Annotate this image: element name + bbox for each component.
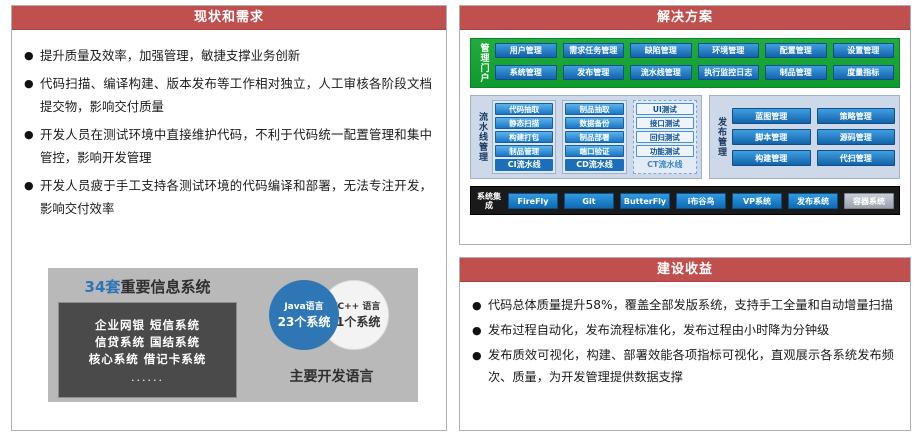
- system-integration-layer: 系统集成 FireFly Git ButterFly i布谷鸟 VP系统 发布系…: [470, 186, 900, 215]
- integration-button[interactable]: ButterFly: [620, 193, 670, 209]
- pipeline-column-footer: CI流水线: [495, 159, 553, 171]
- bullet-text: 发布质效可视化，构建、部署效能各项指标可视化，直观展示各系统发布频次、质量，为开…: [488, 344, 894, 388]
- list-item: ● 开发人员在测试环境中直接维护代码，不利于代码统一配置管理和集中管控，影响开发…: [24, 123, 432, 169]
- slide-canvas: 现状和需求 ● 提升质量及效率，加强管理，敏捷支撑业务创新 ● 代码扫描、编译构…: [0, 0, 919, 436]
- benefit-bullet-list: ● 代码总体质量提升58%，覆盖全部发版系统，支持手工全量和自动增量扫描 ● 发…: [460, 282, 910, 394]
- panel-solution-title: 解决方案: [460, 6, 910, 30]
- release-management-buttons: 蓝图管理 策略管理 脚本管理 源码管理 构建管理 代扫管理: [732, 100, 895, 174]
- portal-button[interactable]: 发布管理: [563, 65, 625, 80]
- portal-button[interactable]: 执行监控日志: [698, 65, 760, 80]
- pipeline-step[interactable]: 代码抽取: [495, 103, 553, 115]
- pipeline-and-release-row: 流水线管理 代码抽取 静态扫描 构建打包 制品管理 CI流水线 制品抽取 数据备…: [470, 95, 900, 179]
- system-row-ellipsis: ......: [131, 371, 164, 384]
- panel-benefit-title: 建设收益: [460, 258, 910, 282]
- pipeline-column-ct: UI测试 接口测试 回归测试 功能测试 CT流水线: [633, 100, 697, 174]
- current-situation-bullet-list: ● 提升质量及效率，加强管理，敏捷支撑业务创新 ● 代码扫描、编译构建、版本发布…: [12, 30, 446, 229]
- solution-architecture-diagram: 管理门户 用户管理 需求任务管理 缺陷管理 环境管理 配置管理 设置管理 系统管…: [460, 30, 910, 221]
- panel-current-situation: 现状和需求 ● 提升质量及效率，加强管理，敏捷支撑业务创新 ● 代码扫描、编译构…: [11, 5, 447, 431]
- integration-button[interactable]: FireFly: [508, 193, 558, 209]
- system-row: 信贷系统 国结系统: [95, 334, 200, 351]
- release-management-label: 发布管理: [714, 100, 727, 174]
- pipeline-step[interactable]: 回归测试: [636, 131, 694, 143]
- release-button[interactable]: 策略管理: [817, 108, 896, 124]
- venn-circle-java: Java语言 23个系统: [269, 280, 339, 350]
- bullet-dot-icon: ●: [472, 344, 488, 388]
- portal-button[interactable]: 制品管理: [765, 65, 827, 80]
- systems-count-unit: 套: [105, 278, 120, 296]
- release-management-layer: 发布管理 蓝图管理 策略管理 脚本管理 源码管理 构建管理 代扫管理: [709, 95, 900, 179]
- portal-button[interactable]: 缺陷管理: [630, 43, 692, 58]
- pipeline-step[interactable]: 制品部署: [565, 131, 623, 143]
- systems-count-title: 34套重要信息系统: [58, 276, 237, 297]
- management-portal-label: 管理门户: [476, 43, 490, 83]
- bullet-dot-icon: ●: [472, 294, 488, 317]
- integration-button[interactable]: 发布系统: [788, 193, 838, 209]
- pipeline-management-layer: 流水线管理 代码抽取 静态扫描 构建打包 制品管理 CI流水线 制品抽取 数据备…: [470, 95, 702, 179]
- pipeline-step[interactable]: 功能测试: [636, 145, 694, 157]
- bullet-dot-icon: ●: [24, 174, 40, 220]
- pipeline-column-footer: CD流水线: [565, 159, 623, 171]
- list-item: ● 提升质量及效率，加强管理，敏捷支撑业务创新: [24, 44, 432, 67]
- systems-infographic: 34套重要信息系统 企业网银 短信系统 信贷系统 国结系统 核心系统 借记卡系统…: [48, 268, 418, 402]
- bullet-text: 发布过程自动化，发布流程标准化，发布过程由小时降为分钟级: [488, 319, 894, 342]
- panel-benefit: 建设收益 ● 代码总体质量提升58%，覆盖全部发版系统，支持手工全量和自动增量扫…: [459, 257, 911, 431]
- portal-button[interactable]: 环境管理: [698, 43, 760, 58]
- portal-button[interactable]: 流水线管理: [630, 65, 692, 80]
- release-button[interactable]: 代扫管理: [817, 150, 896, 166]
- pipeline-columns: 代码抽取 静态扫描 构建打包 制品管理 CI流水线 制品抽取 数据备份 制品部署…: [492, 100, 697, 174]
- pipeline-step[interactable]: 端口验证: [565, 145, 623, 157]
- management-portal-layer: 管理门户 用户管理 需求任务管理 缺陷管理 环境管理 配置管理 设置管理 系统管…: [470, 38, 900, 88]
- list-item: ● 代码总体质量提升58%，覆盖全部发版系统，支持手工全量和自动增量扫描: [472, 294, 894, 317]
- list-item: ● 开发人员疲于手工支持各测试环境的代码编译和部署，无法专注开发，影响交付效率: [24, 174, 432, 220]
- release-button[interactable]: 脚本管理: [732, 129, 811, 145]
- pipeline-column-ci: 代码抽取 静态扫描 构建打包 制品管理 CI流水线: [492, 100, 556, 174]
- venn-caption: 主要开发语言: [245, 366, 418, 386]
- system-integration-buttons: FireFly Git ButterFly i布谷鸟 VP系统 发布系统 容器系…: [508, 193, 894, 209]
- integration-button[interactable]: i布谷鸟: [676, 193, 726, 209]
- pipeline-management-label: 流水线管理: [475, 100, 488, 174]
- list-item: ● 发布质效可视化，构建、部署效能各项指标可视化，直观展示各系统发布频次、质量，…: [472, 344, 894, 388]
- release-button[interactable]: 构建管理: [732, 150, 811, 166]
- system-row: 核心系统 借记卡系统: [89, 351, 207, 368]
- systems-count-number: 34: [85, 278, 106, 296]
- release-button[interactable]: 源码管理: [817, 129, 896, 145]
- integration-button[interactable]: Git: [564, 193, 614, 209]
- systems-name-box: 企业网银 短信系统 信贷系统 国结系统 核心系统 借记卡系统 ......: [58, 302, 237, 398]
- release-button[interactable]: 蓝图管理: [732, 108, 811, 124]
- bullet-dot-icon: ●: [24, 72, 40, 118]
- portal-button[interactable]: 需求任务管理: [563, 43, 625, 58]
- bullet-dot-icon: ●: [24, 123, 40, 169]
- pipeline-column-cd: 制品抽取 数据备份 制品部署 端口验证 CD流水线: [562, 100, 626, 174]
- portal-button[interactable]: 用户管理: [495, 43, 557, 58]
- list-item: ● 代码扫描、编译构建、版本发布等工作相对独立，人工审核各阶段文档提交物，影响交…: [24, 72, 432, 118]
- portal-button[interactable]: 配置管理: [765, 43, 827, 58]
- portal-button[interactable]: 度量指标: [833, 65, 895, 80]
- pipeline-step[interactable]: 接口测试: [636, 117, 694, 129]
- portal-button[interactable]: 系统管理: [495, 65, 557, 80]
- pipeline-step[interactable]: 制品管理: [495, 145, 553, 157]
- portal-button[interactable]: 设置管理: [833, 43, 895, 58]
- systems-count-block: 34套重要信息系统 企业网银 短信系统 信贷系统 国结系统 核心系统 借记卡系统…: [48, 268, 245, 402]
- management-portal-buttons: 用户管理 需求任务管理 缺陷管理 环境管理 配置管理 设置管理 系统管理 发布管…: [495, 43, 894, 83]
- bullet-text: 提升质量及效率，加强管理，敏捷支撑业务创新: [40, 44, 432, 67]
- pipeline-column-footer: CT流水线: [636, 159, 694, 171]
- integration-button[interactable]: 容器系统: [844, 193, 894, 209]
- pipeline-step[interactable]: 数据备份: [565, 117, 623, 129]
- pipeline-step[interactable]: 制品抽取: [565, 103, 623, 115]
- systems-count-label: 重要信息系统: [120, 278, 210, 296]
- venn-diagram: C/C++ 语言 11个系统 Java语言 23个系统: [245, 272, 418, 364]
- pipeline-step[interactable]: 静态扫描: [495, 117, 553, 129]
- bullet-dot-icon: ●: [472, 319, 488, 342]
- panel-solution: 解决方案 管理门户 用户管理 需求任务管理 缺陷管理 环境管理 配置管理 设置管…: [459, 5, 911, 245]
- venn-java-language: Java语言: [284, 301, 323, 314]
- bullet-text: 开发人员疲于手工支持各测试环境的代码编译和部署，无法专注开发，影响交付效率: [40, 174, 432, 220]
- list-item: ● 发布过程自动化，发布流程标准化，发布过程由小时降为分钟级: [472, 319, 894, 342]
- bullet-text: 代码扫描、编译构建、版本发布等工作相对独立，人工审核各阶段文档提交物，影响交付质…: [40, 72, 432, 118]
- bullet-dot-icon: ●: [24, 44, 40, 67]
- languages-venn-block: C/C++ 语言 11个系统 Java语言 23个系统 主要开发语言: [245, 268, 418, 402]
- system-integration-label: 系统集成: [476, 191, 502, 210]
- system-row: 企业网银 短信系统: [95, 317, 200, 334]
- panel-current-situation-title: 现状和需求: [12, 6, 446, 30]
- venn-java-count: 23个系统: [278, 314, 331, 330]
- pipeline-step[interactable]: 构建打包: [495, 131, 553, 143]
- integration-button[interactable]: VP系统: [732, 193, 782, 209]
- pipeline-step[interactable]: UI测试: [636, 103, 694, 115]
- bullet-text: 代码总体质量提升58%，覆盖全部发版系统，支持手工全量和自动增量扫描: [488, 294, 894, 317]
- bullet-text: 开发人员在测试环境中直接维护代码，不利于代码统一配置管理和集中管控，影响开发管理: [40, 123, 432, 169]
